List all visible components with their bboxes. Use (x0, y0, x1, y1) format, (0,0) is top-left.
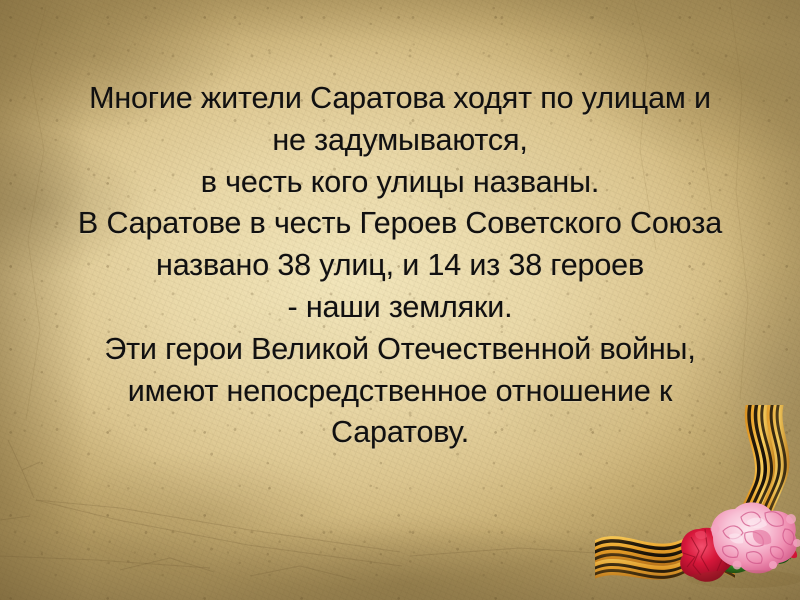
body-line: имеют непосредственное отношение к (26, 371, 774, 413)
body-line: Саратову. (26, 412, 774, 454)
ribbon-horizontal-segment (595, 534, 735, 581)
body-line: В Саратове в честь Героев Советского Сою… (26, 203, 774, 245)
body-line: Эти герои Великой Отечественной войны, (26, 329, 774, 371)
body-line: Многие жители Саратова ходят по улицам и (26, 78, 774, 120)
body-line: - наши земляки. (26, 287, 774, 329)
pink-carnation (711, 502, 800, 573)
body-line: в честь кого улицы названы. (26, 162, 774, 204)
slide-body-text: Многие жители Саратова ходят по улицам и… (26, 78, 774, 454)
red-carnation (680, 528, 734, 582)
slide-canvas: Многие жители Саратова ходят по улицам и… (0, 0, 800, 600)
body-line: не задумываются, (26, 120, 774, 162)
green-leaves (713, 542, 797, 573)
body-line: названо 38 улиц, и 14 из 38 героев (26, 245, 774, 287)
